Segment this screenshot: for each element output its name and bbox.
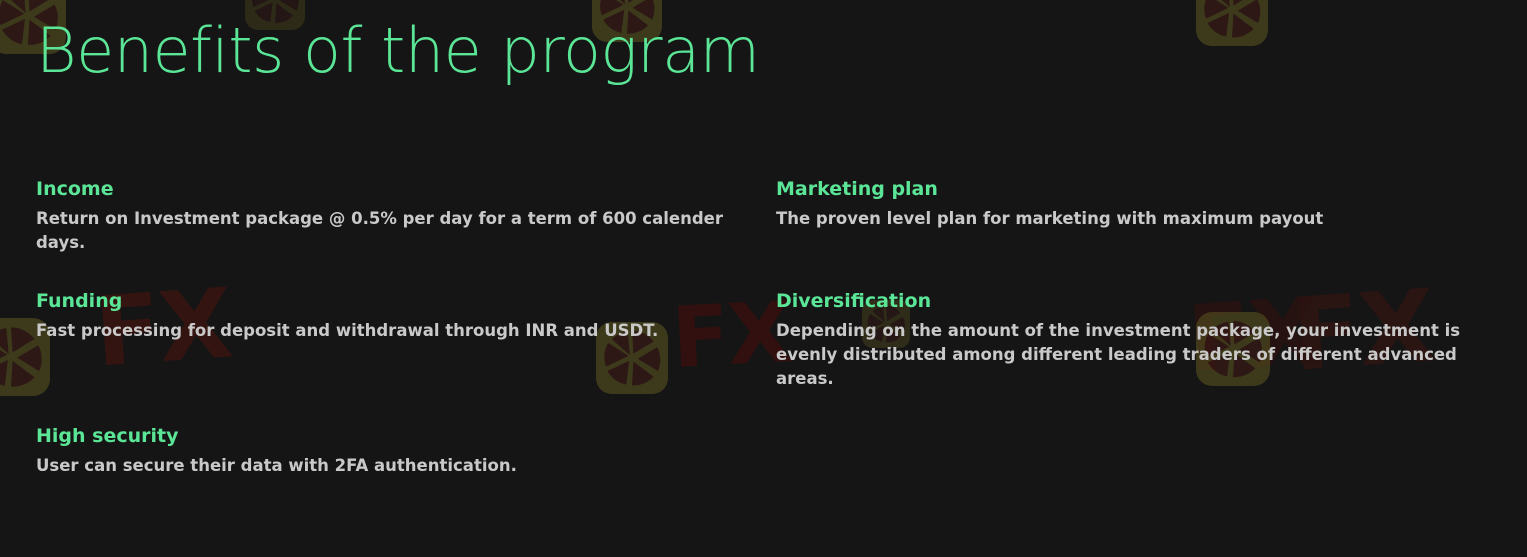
benefit-description: Depending on the amount of the investmen… <box>776 319 1486 391</box>
benefit-item-diversification: Diversification Depending on the amount … <box>776 289 1486 391</box>
benefit-item-marketing-plan: Marketing plan The proven level plan for… <box>776 177 1486 231</box>
page-title: Benefits of the program <box>36 12 759 90</box>
benefit-description: User can secure their data with 2FA auth… <box>36 454 746 478</box>
benefit-item-funding: Funding Fast processing for deposit and … <box>36 289 746 343</box>
benefit-description: Fast processing for deposit and withdraw… <box>36 319 746 343</box>
benefit-description: Return on Investment package @ 0.5% per … <box>36 207 746 255</box>
benefit-title: Funding <box>36 289 746 313</box>
benefit-description: The proven level plan for marketing with… <box>776 207 1486 231</box>
watermark-logo-badge <box>1196 0 1268 46</box>
benefit-item-high-security: High security User can secure their data… <box>36 424 746 478</box>
benefit-item-income: Income Return on Investment package @ 0.… <box>36 177 746 255</box>
benefit-title: Diversification <box>776 289 1486 313</box>
benefit-title: Marketing plan <box>776 177 1486 201</box>
benefit-title: High security <box>36 424 746 448</box>
benefit-title: Income <box>36 177 746 201</box>
